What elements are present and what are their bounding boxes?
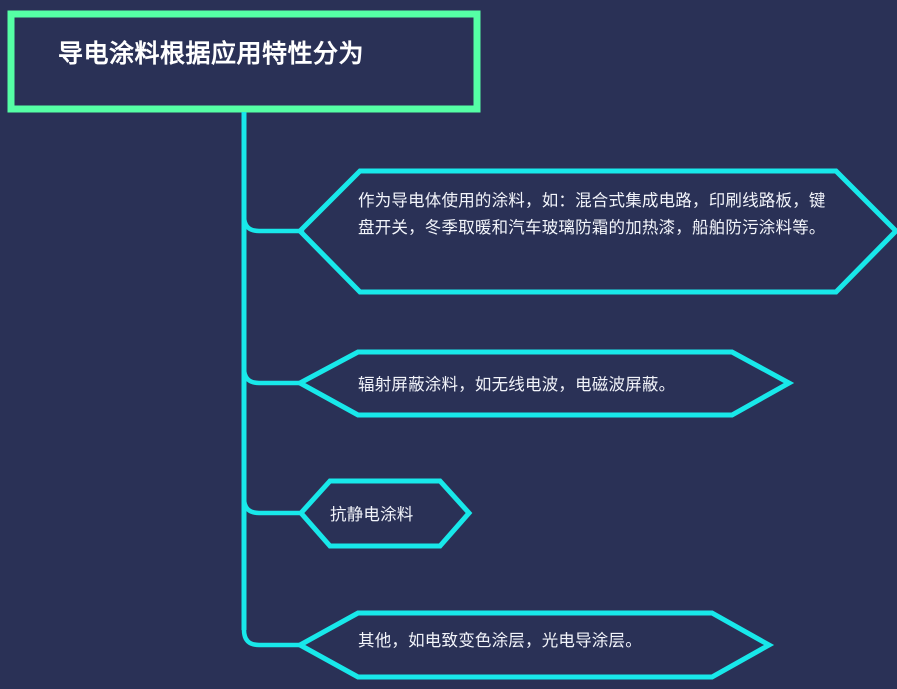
node-shape-3[interactable] — [301, 481, 469, 546]
branch-connector-4 — [244, 630, 302, 645]
node-shape-2[interactable] — [300, 352, 789, 415]
mindmap-canvas: 导电涂料根据应用特性分为 作为导电体使用的涂料，如：混合式集成电路，印刷线路板，… — [0, 0, 897, 689]
diagram-vector-layer — [0, 0, 897, 689]
node-shape-1[interactable] — [300, 171, 896, 292]
branch-connector-2 — [244, 368, 302, 383]
root-node-box[interactable] — [11, 14, 477, 109]
branch-connector-1 — [244, 216, 302, 231]
node-shape-4[interactable] — [300, 613, 769, 677]
branch-connector-3 — [244, 498, 302, 513]
